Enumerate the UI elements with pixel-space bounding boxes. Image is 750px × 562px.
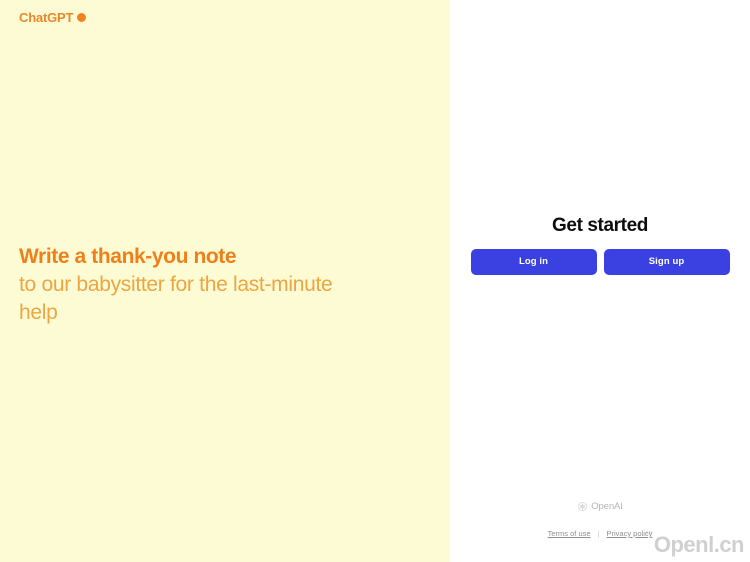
openai-wordmark: OpenAI xyxy=(591,502,623,512)
promo-line-3: help xyxy=(19,299,419,327)
promo-line-2: to our babysitter for the last-minute xyxy=(19,271,419,299)
get-started-section: Get started Log in Sign up xyxy=(450,216,750,275)
privacy-policy-link[interactable]: Privacy policy xyxy=(607,529,653,538)
get-started-title: Get started xyxy=(450,216,750,237)
terms-of-use-link[interactable]: Terms of use xyxy=(548,529,591,538)
promo-line-bold: Write a thank-you note xyxy=(19,243,419,271)
chatgpt-logo-text: ChatGPT xyxy=(19,11,73,24)
auth-button-group: Log in Sign up xyxy=(450,249,750,275)
left-promo-panel: ChatGPT Write a thank-you note to our ba… xyxy=(0,0,450,562)
chatgpt-landing-page: ChatGPT Write a thank-you note to our ba… xyxy=(0,0,750,562)
signup-button[interactable]: Sign up xyxy=(604,249,730,275)
footer-separator: | xyxy=(598,529,600,538)
right-auth-panel: Get started Log in Sign up OpenAI Terms … xyxy=(450,0,750,562)
footer-links: Terms of use | Privacy policy xyxy=(450,529,750,538)
openai-logo-icon xyxy=(577,501,588,512)
openai-branding: OpenAI xyxy=(450,501,750,512)
chatgpt-logo[interactable]: ChatGPT xyxy=(19,11,86,24)
chatgpt-dot-icon xyxy=(77,13,86,22)
page-footer: OpenAI Terms of use | Privacy policy xyxy=(450,501,750,538)
login-button[interactable]: Log in xyxy=(471,249,597,275)
promo-suggestion: Write a thank-you note to our babysitter… xyxy=(19,243,419,327)
